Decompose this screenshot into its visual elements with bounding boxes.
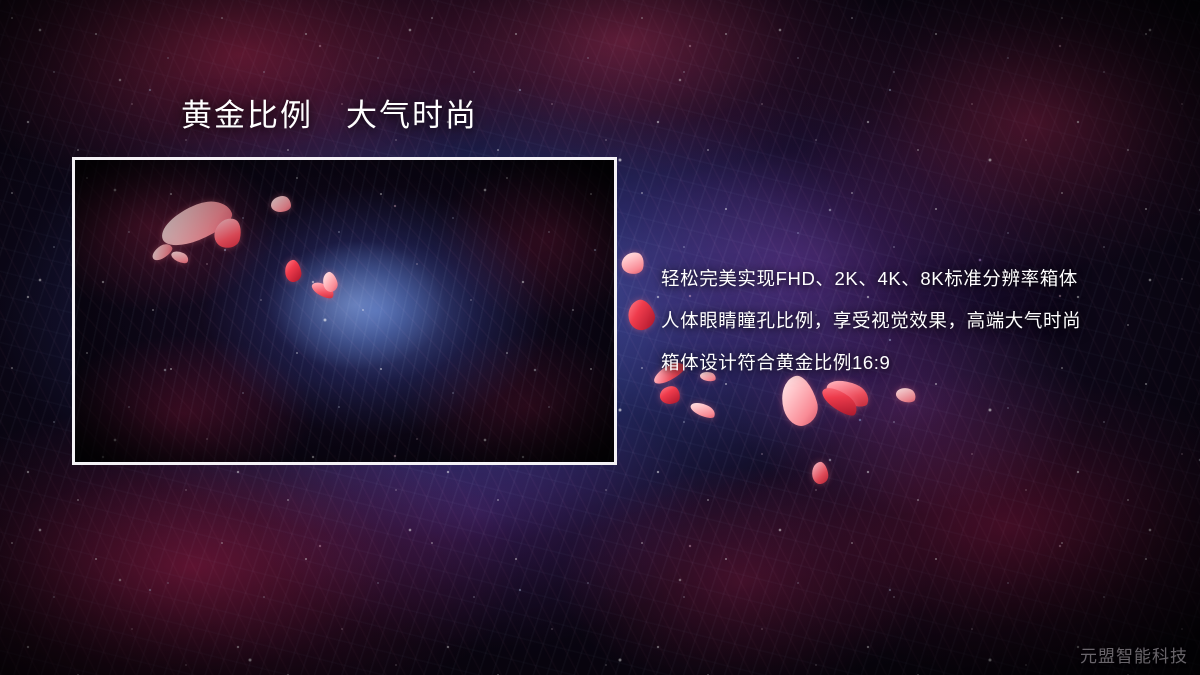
framed-photo-panel <box>72 157 617 465</box>
photo-vignette <box>75 160 614 462</box>
presentation-slide: 黄金比例 大气时尚 轻松完美实现FHD、2K、4K、8K标准分辨率箱体 人体眼睛… <box>0 0 1200 675</box>
flower-petal <box>819 382 862 420</box>
photo-content <box>75 160 614 462</box>
company-watermark: 元盟智能科技 <box>1080 642 1188 667</box>
flower-petal <box>811 461 830 485</box>
feature-line-2: 人体眼睛瞳孔比例，享受视觉效果，高端大气时尚 <box>661 300 1161 342</box>
flower-petal <box>659 385 681 405</box>
feature-line-3: 箱体设计符合黄金比例16:9 <box>661 342 1161 384</box>
flower-petal <box>624 296 659 333</box>
page-title: 黄金比例 大气时尚 <box>181 99 478 133</box>
feature-description-block: 轻松完美实现FHD、2K、4K、8K标准分辨率箱体 人体眼睛瞳孔比例，享受视觉效… <box>661 258 1161 384</box>
flower-petal <box>689 399 718 421</box>
feature-line-1: 轻松完美实现FHD、2K、4K、8K标准分辨率箱体 <box>661 258 1161 300</box>
flower-petal <box>620 250 647 277</box>
flower-petal <box>894 385 917 404</box>
